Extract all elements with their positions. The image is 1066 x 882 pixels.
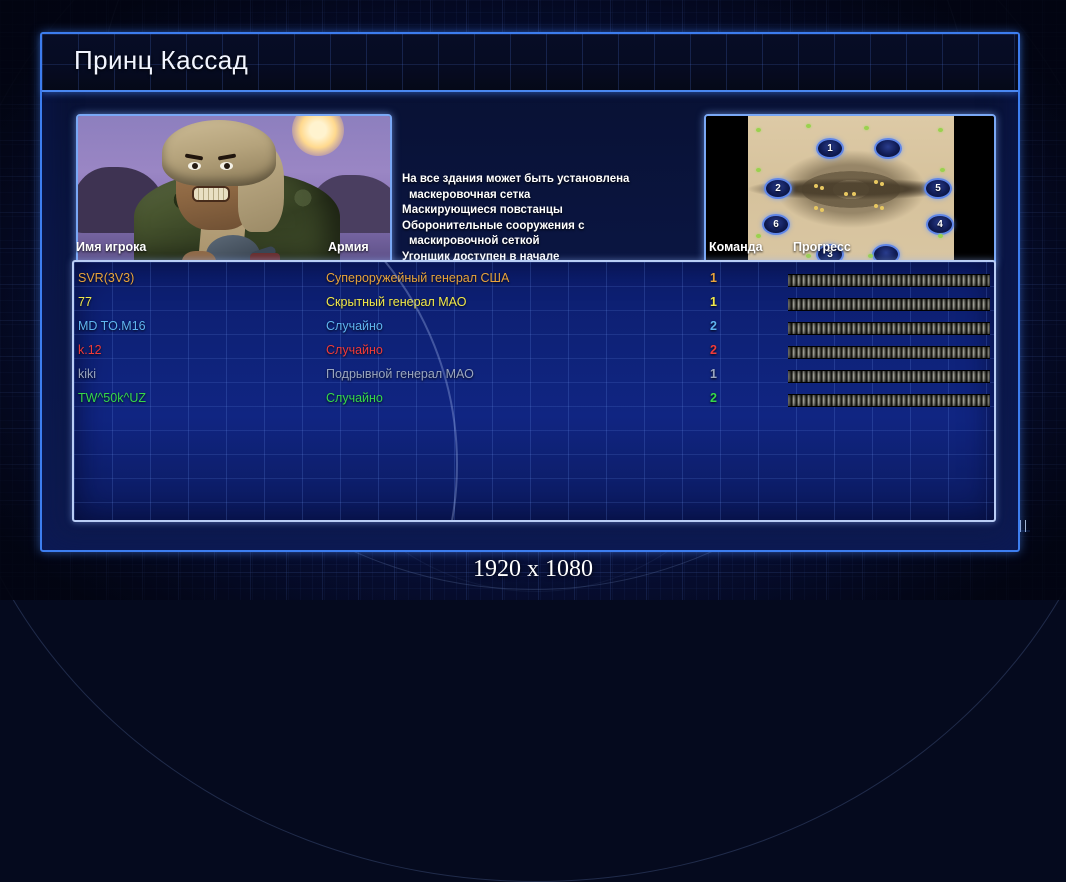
minimap-supply-dot [756, 168, 761, 172]
general-info-window: Принц Кассад [40, 32, 1020, 552]
table-row[interactable]: 77Скрытный генерал МАО1 [74, 292, 994, 316]
description-line: маскеровочная сетка [402, 188, 698, 204]
description-line: Оборонительные сооружения с [402, 219, 698, 235]
minimap-start-slot[interactable] [874, 138, 902, 159]
progress-bar [788, 274, 990, 287]
window-titlebar: Принц Кассад [42, 34, 1018, 92]
minimap-start-slot[interactable]: 6 [762, 214, 790, 235]
player-table-header: Имя игрока Армия Команда Прогресс [76, 240, 988, 260]
cell-team: 2 [710, 343, 717, 357]
cell-player-name: SVR(3V3) [78, 271, 134, 285]
portrait-teeth [194, 188, 228, 200]
cell-army: Супероружейный генерал США [326, 271, 509, 285]
player-rows: SVR(3V3)Супероружейный генерал США177Скр… [74, 262, 994, 520]
cell-player-name: k.12 [78, 343, 102, 357]
minimap-resource-dot [820, 186, 824, 190]
minimap-resource-dot [814, 206, 818, 210]
header-player-name: Имя игрока [76, 240, 146, 254]
cell-player-name: 77 [78, 295, 92, 309]
minimap-supply-dot [756, 234, 761, 238]
cell-army: Скрытный генерал МАО [326, 295, 466, 309]
portrait-sun [292, 116, 344, 156]
minimap-supply-dot [756, 128, 761, 132]
header-progress: Прогресс [793, 240, 851, 254]
portrait-pupil-right [224, 163, 230, 169]
player-table-panel: SVR(3V3)Супероружейный генерал США177Скр… [72, 260, 996, 522]
cell-player-name: kiki [78, 367, 96, 381]
cell-player-name: MD TO.M16 [78, 319, 146, 333]
cell-team: 1 [710, 295, 717, 309]
table-row[interactable]: TW^50k^UZСлучайно2 [74, 388, 994, 412]
portrait-keffiyeh [162, 120, 276, 186]
cell-army: Подрывной генерал МАО [326, 367, 474, 381]
minimap-start-slot[interactable]: 2 [764, 178, 792, 199]
minimap-supply-dot [938, 128, 943, 132]
header-team: Команда [709, 240, 763, 254]
cell-army: Случайно [326, 391, 383, 405]
page-title: Принц Кассад [74, 45, 248, 76]
media-row: На все здания может быть установленамаск… [42, 90, 1018, 240]
progress-bar [788, 322, 990, 335]
minimap-resource-dot [880, 182, 884, 186]
cell-team: 2 [710, 319, 717, 333]
minimap-resource-dot [844, 192, 848, 196]
minimap-resource-dot [874, 204, 878, 208]
minimap-supply-dot [940, 168, 945, 172]
minimap-supply-dot [864, 126, 869, 130]
progress-bar [788, 298, 990, 311]
minimap-supply-dot [938, 234, 943, 238]
progress-bar [788, 346, 990, 359]
minimap-start-slot[interactable]: 5 [924, 178, 952, 199]
minimap-start-slot[interactable]: 4 [926, 214, 954, 235]
window-inner-panel: Принц Кассад [40, 32, 1020, 552]
header-army: Армия [328, 240, 369, 254]
table-row[interactable]: MD TO.M16Случайно2 [74, 316, 994, 340]
minimap-supply-dot [806, 124, 811, 128]
minimap-resource-dot [874, 180, 878, 184]
minimap-resource-dot [880, 206, 884, 210]
table-row[interactable]: SVR(3V3)Супероружейный генерал США1 [74, 268, 994, 292]
minimap-resource-dot [814, 184, 818, 188]
cell-player-name: TW^50k^UZ [78, 391, 146, 405]
cell-team: 2 [710, 391, 717, 405]
progress-bar [788, 370, 990, 383]
cell-team: 1 [710, 271, 717, 285]
table-row[interactable]: kikiПодрывной генерал МАО1 [74, 364, 994, 388]
minimap-start-slot[interactable]: 1 [816, 138, 844, 159]
resolution-label: 1920 x 1080 [0, 556, 1066, 583]
cell-team: 1 [710, 367, 717, 381]
cell-army: Случайно [326, 319, 383, 333]
cell-army: Случайно [326, 343, 383, 357]
table-row[interactable]: k.12Случайно2 [74, 340, 994, 364]
description-line: На все здания может быть установлена [402, 172, 698, 188]
progress-bar [788, 394, 990, 407]
description-line: Маскирующиеся повстанцы [402, 203, 698, 219]
portrait-pupil-left [192, 163, 198, 169]
minimap-resource-dot [820, 208, 824, 212]
minimap-resource-dot [852, 192, 856, 196]
